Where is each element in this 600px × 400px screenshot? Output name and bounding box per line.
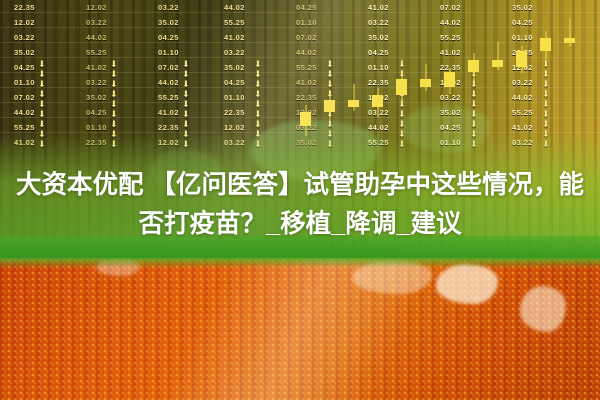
headline-text: 大资本优配 【亿问医答】试管助孕中这些情况，能否打疫苗？_移植_降调_建议 — [14, 166, 586, 244]
light-sweep-overlay — [0, 258, 600, 400]
headline-banner: 大资本优配 【亿问医答】试管助孕中这些情况，能否打疫苗？_移植_降调_建议 — [0, 150, 600, 260]
bottom-financial-board — [0, 258, 600, 400]
stock-market-headline-image: 22.3512.0203.2235.0204.2501.1007.0244.02… — [0, 0, 600, 400]
